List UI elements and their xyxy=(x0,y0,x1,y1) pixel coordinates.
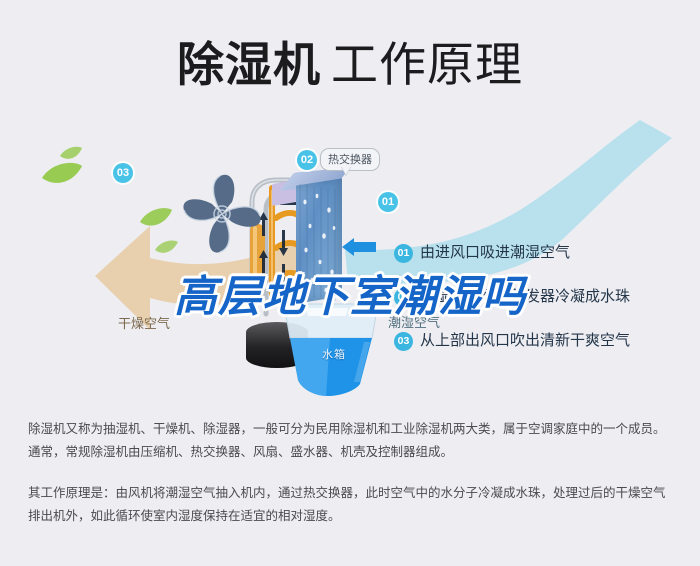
watermark-overlay-text: 高层地下室潮湿吗 xyxy=(0,262,700,324)
diagram-badge-01: 01 xyxy=(378,192,398,212)
inlet-arrow-icon xyxy=(342,238,376,256)
water-tank-label: 水箱 xyxy=(322,346,346,362)
article-paragraph-1: 除湿机又称为抽湿机、干燥机、除湿器，一般可分为民用除湿机和工业除湿机两大类，属于… xyxy=(28,418,676,464)
list-item: 01 由进风口吸进潮湿空气 xyxy=(394,243,694,263)
fan-icon xyxy=(176,168,268,260)
step-text-01: 由进风口吸进潮湿空气 xyxy=(420,243,570,262)
step-badge-01: 01 xyxy=(394,244,413,263)
diagram-badge-02: 02 xyxy=(297,150,317,170)
heat-exchanger-callout-tail xyxy=(341,166,351,175)
infographic-page: 除湿机工作原理 xyxy=(0,0,700,566)
page-title: 除湿机工作原理 xyxy=(0,26,700,95)
step-badge-03: 03 xyxy=(394,332,413,351)
article-paragraph-2: 其工作原理是：由风机将潮湿空气抽入机内，通过热交换器，此时空气中的水分子冷凝成水… xyxy=(28,482,676,528)
step-text-03: 从上部出风口吹出清新干爽空气 xyxy=(420,331,630,350)
article-body: 除湿机又称为抽湿机、干燥机、除湿器，一般可分为民用除湿机和工业除湿机两大类，属于… xyxy=(28,418,676,528)
list-item: 03 从上部出风口吹出清新干爽空气 xyxy=(394,331,694,351)
diagram-badge-03: 03 xyxy=(113,163,133,183)
page-title-secondary: 工作原理 xyxy=(331,38,523,91)
page-title-primary: 除湿机 xyxy=(177,38,321,91)
